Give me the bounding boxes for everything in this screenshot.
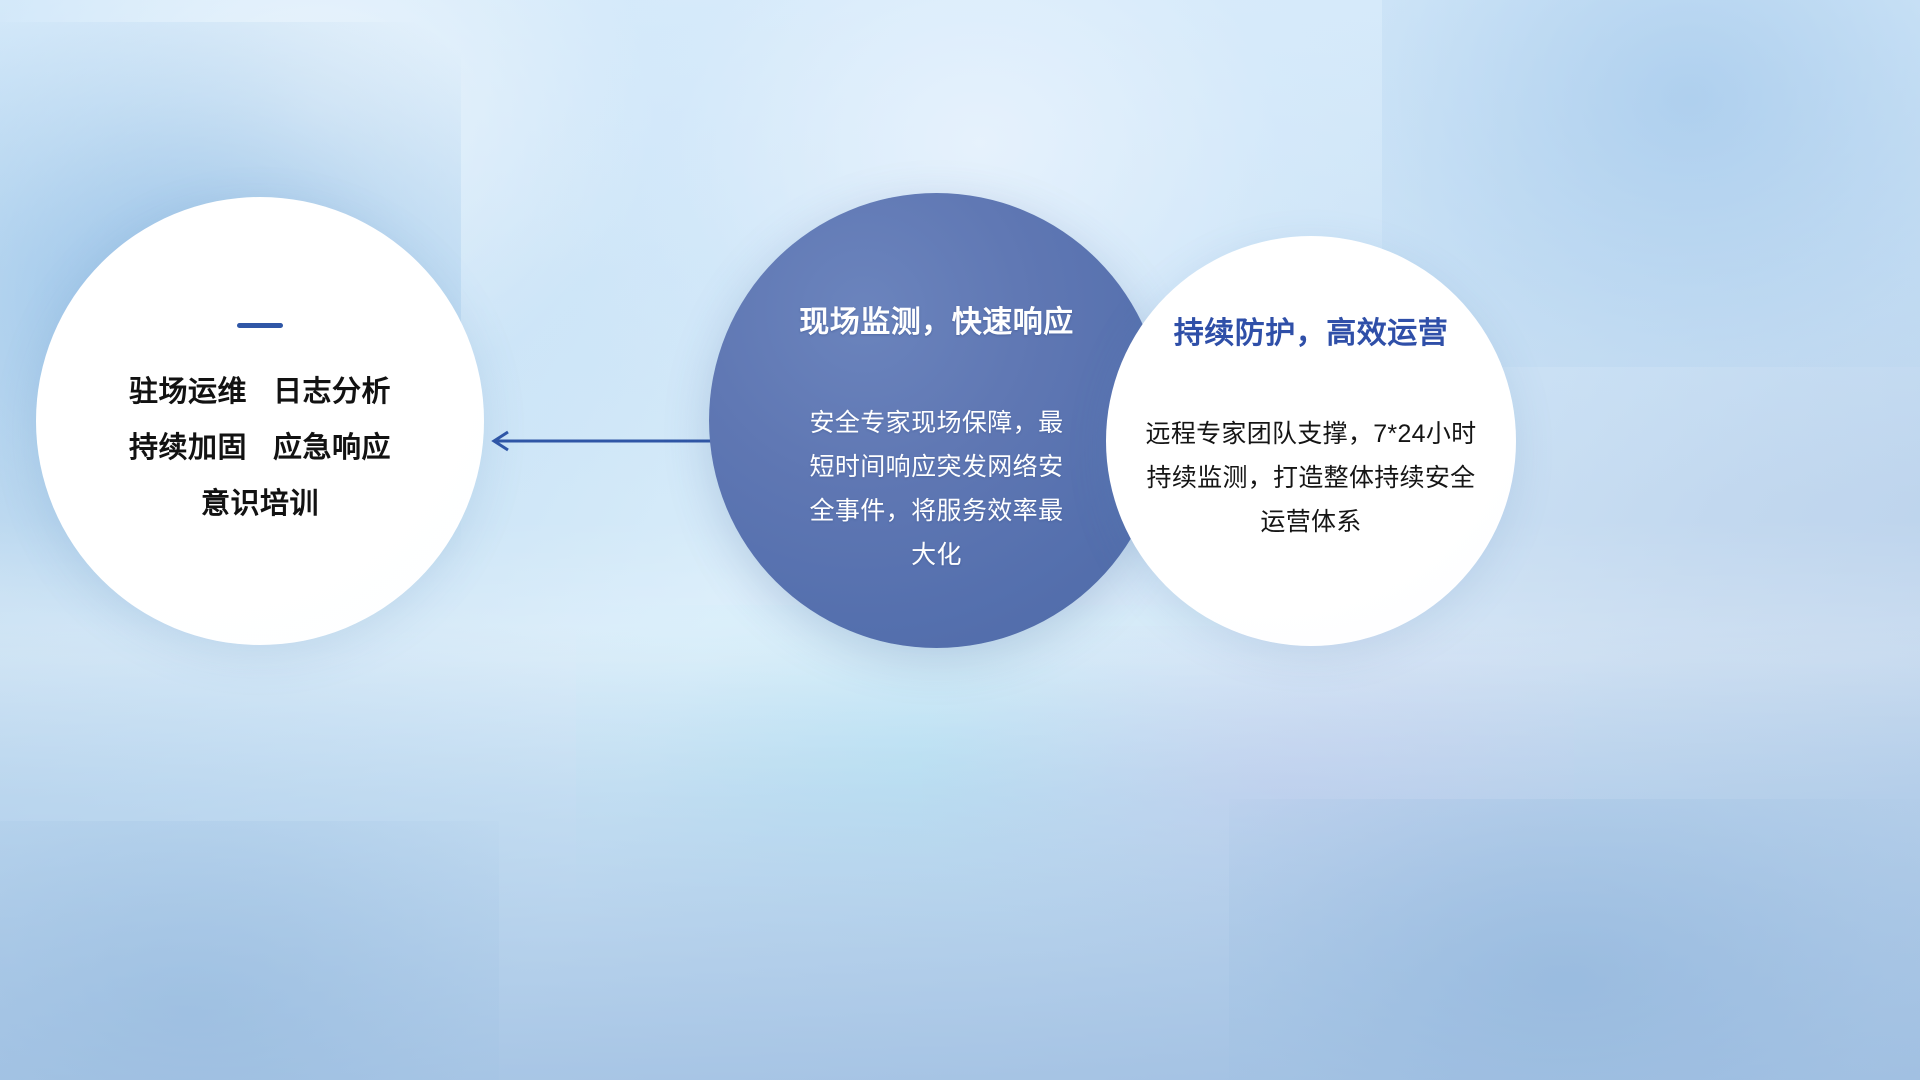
left-circle-card: 驻场运维日志分析 持续加固应急响应 意识培训: [36, 197, 484, 645]
left-circle-keyword-list: 驻场运维日志分析 持续加固应急响应 意识培训: [129, 364, 391, 532]
mid-circle-card: 现场监测，快速响应 安全专家现场保障，最短时间响应突发网络安全事件，将服务效率最…: [709, 193, 1164, 648]
keyword-rizhi-fenxi: 日志分析: [273, 376, 391, 408]
mid-circle-body-text: 安全专家现场保障，最短时间响应突发网络安全事件，将服务效率最大化: [798, 401, 1076, 577]
background-bottom-left-blob: [0, 821, 499, 1080]
right-circle-card: 持续防护，高效运营 远程专家团队支撑，7*24小时持续监测，打造整体持续安全运营…: [1106, 236, 1516, 646]
keyword-yishi-peixun: 意识培训: [201, 488, 319, 520]
background-bottom-right-blob: [1229, 799, 1920, 1080]
right-circle-body-text: 远程专家团队支撑，7*24小时持续监测，打造整体持续安全运营体系: [1135, 412, 1487, 544]
right-circle-title: 持续防护，高效运营: [1174, 308, 1449, 352]
list-item: 驻场运维日志分析: [129, 364, 391, 420]
arrow-left-connector: [482, 425, 732, 457]
keyword-yingji-xiangying: 应急响应: [273, 432, 391, 464]
mid-circle-title: 现场监测，快速响应: [799, 297, 1074, 341]
keyword-zhuchang-yunwei: 驻场运维: [129, 376, 247, 408]
list-item: 持续加固应急响应: [129, 420, 391, 476]
divider-dash-icon: [237, 323, 283, 328]
keyword-chixu-jiagu: 持续加固: [129, 432, 247, 464]
list-item: 意识培训: [129, 476, 391, 532]
